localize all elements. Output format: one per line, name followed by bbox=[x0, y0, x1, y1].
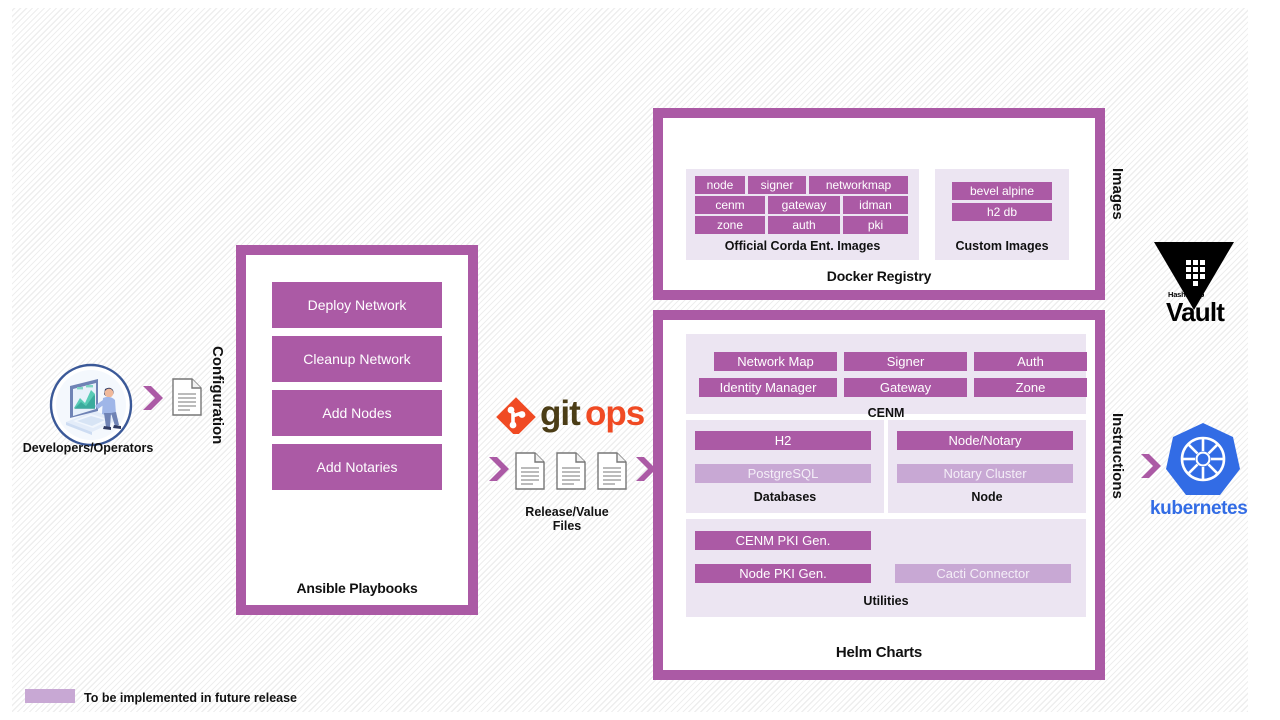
ansible-playbooks-panel: Deploy Network Cleanup Network Add Nodes… bbox=[236, 245, 478, 615]
helm-chip-node-pki-gen: Node PKI Gen. bbox=[695, 564, 871, 583]
custom-images-title: Custom Images bbox=[935, 239, 1069, 253]
node-group-title: Node bbox=[888, 490, 1086, 504]
image-chip-bevel-alpine: bevel alpine bbox=[952, 182, 1052, 200]
custom-images-group: bevel alpine h2 db Custom Images bbox=[935, 169, 1069, 260]
image-chip-node: node bbox=[695, 176, 745, 194]
helm-chip-node-notary: Node/Notary bbox=[897, 431, 1073, 450]
helm-chip-network-map: Network Map bbox=[714, 352, 837, 371]
release-value-files-caption-line1: Release/Value bbox=[487, 505, 647, 519]
image-chip-zone: zone bbox=[695, 216, 765, 234]
image-chip-idman: idman bbox=[843, 196, 908, 214]
helm-chip-identity-manager: Identity Manager bbox=[699, 378, 837, 397]
helm-chip-h2: H2 bbox=[695, 431, 871, 450]
kubernetes-logo bbox=[1163, 420, 1243, 505]
helm-charts-title: Helm Charts bbox=[663, 644, 1095, 661]
official-corda-images-group: node signer networkmap cenm gateway idma… bbox=[686, 169, 919, 260]
release-value-file-icon-2 bbox=[556, 452, 586, 495]
gitops-logo: git ops bbox=[492, 392, 648, 439]
helm-chip-auth: Auth bbox=[974, 352, 1087, 371]
developers-operators-illustration bbox=[48, 362, 134, 448]
configuration-label: Configuration bbox=[209, 346, 226, 444]
chevron-arrow-instructions bbox=[1139, 452, 1163, 485]
databases-group: H2 PostgreSQL Databases bbox=[686, 420, 884, 513]
image-chip-auth: auth bbox=[768, 216, 840, 234]
image-chip-h2-db: h2 db bbox=[952, 203, 1052, 221]
helm-chip-notary-cluster: Notary Cluster bbox=[897, 464, 1073, 483]
helm-chip-cenm-pki-gen: CENM PKI Gen. bbox=[695, 531, 871, 550]
helm-charts-panel: Network Map Signer Auth Identity Manager… bbox=[653, 310, 1105, 680]
playbook-button-cleanup-network[interactable]: Cleanup Network bbox=[272, 336, 442, 382]
playbook-button-add-notaries[interactable]: Add Notaries bbox=[272, 444, 442, 490]
utilities-group: CENM PKI Gen. Node PKI Gen. Cacti Connec… bbox=[686, 519, 1086, 617]
configuration-document-icon bbox=[172, 378, 202, 421]
docker-registry-panel: node signer networkmap cenm gateway idma… bbox=[653, 108, 1105, 300]
cenm-group: Network Map Signer Auth Identity Manager… bbox=[686, 334, 1086, 414]
image-chip-cenm: cenm bbox=[695, 196, 765, 214]
cenm-group-title: CENM bbox=[686, 406, 1086, 420]
legend-text-future: To be implemented in future release bbox=[84, 691, 297, 705]
images-label: Images bbox=[1109, 168, 1126, 220]
image-chip-networkmap: networkmap bbox=[809, 176, 908, 194]
chevron-arrow-into-files bbox=[487, 455, 511, 488]
node-group: Node/Notary Notary Cluster Node bbox=[888, 420, 1086, 513]
image-chip-gateway: gateway bbox=[768, 196, 840, 214]
helm-chip-postgresql: PostgreSQL bbox=[695, 464, 871, 483]
ansible-playbooks-title: Ansible Playbooks bbox=[246, 580, 468, 596]
release-value-files-caption-line2: Files bbox=[487, 519, 647, 533]
helm-chip-signer: Signer bbox=[844, 352, 967, 371]
playbook-button-deploy-network[interactable]: Deploy Network bbox=[272, 282, 442, 328]
playbook-button-add-nodes[interactable]: Add Nodes bbox=[272, 390, 442, 436]
image-chip-signer: signer bbox=[748, 176, 806, 194]
databases-group-title: Databases bbox=[686, 490, 884, 504]
helm-chip-zone: Zone bbox=[974, 378, 1087, 397]
kubernetes-name-label: kubernetes bbox=[1150, 498, 1247, 520]
svg-text:git: git bbox=[540, 394, 581, 433]
chevron-arrow-configuration bbox=[141, 384, 165, 417]
helm-chip-gateway: Gateway bbox=[844, 378, 967, 397]
official-corda-images-title: Official Corda Ent. Images bbox=[686, 239, 919, 253]
diagram-canvas: Developers/Operators Configuration Deplo… bbox=[0, 0, 1280, 720]
svg-text:ops: ops bbox=[585, 394, 645, 433]
release-value-file-icon-1 bbox=[515, 452, 545, 495]
image-chip-pki: pki bbox=[843, 216, 908, 234]
legend-swatch-future bbox=[25, 689, 75, 703]
utilities-group-title: Utilities bbox=[686, 594, 1086, 608]
developers-operators-label: Developers/Operators bbox=[0, 441, 176, 455]
helm-chip-cacti-connector: Cacti Connector bbox=[895, 564, 1071, 583]
vault-name-label: Vault bbox=[1166, 297, 1224, 328]
release-value-file-icon-3 bbox=[597, 452, 627, 495]
docker-registry-title: Docker Registry bbox=[663, 268, 1095, 284]
instructions-label: Instructions bbox=[1109, 413, 1126, 499]
